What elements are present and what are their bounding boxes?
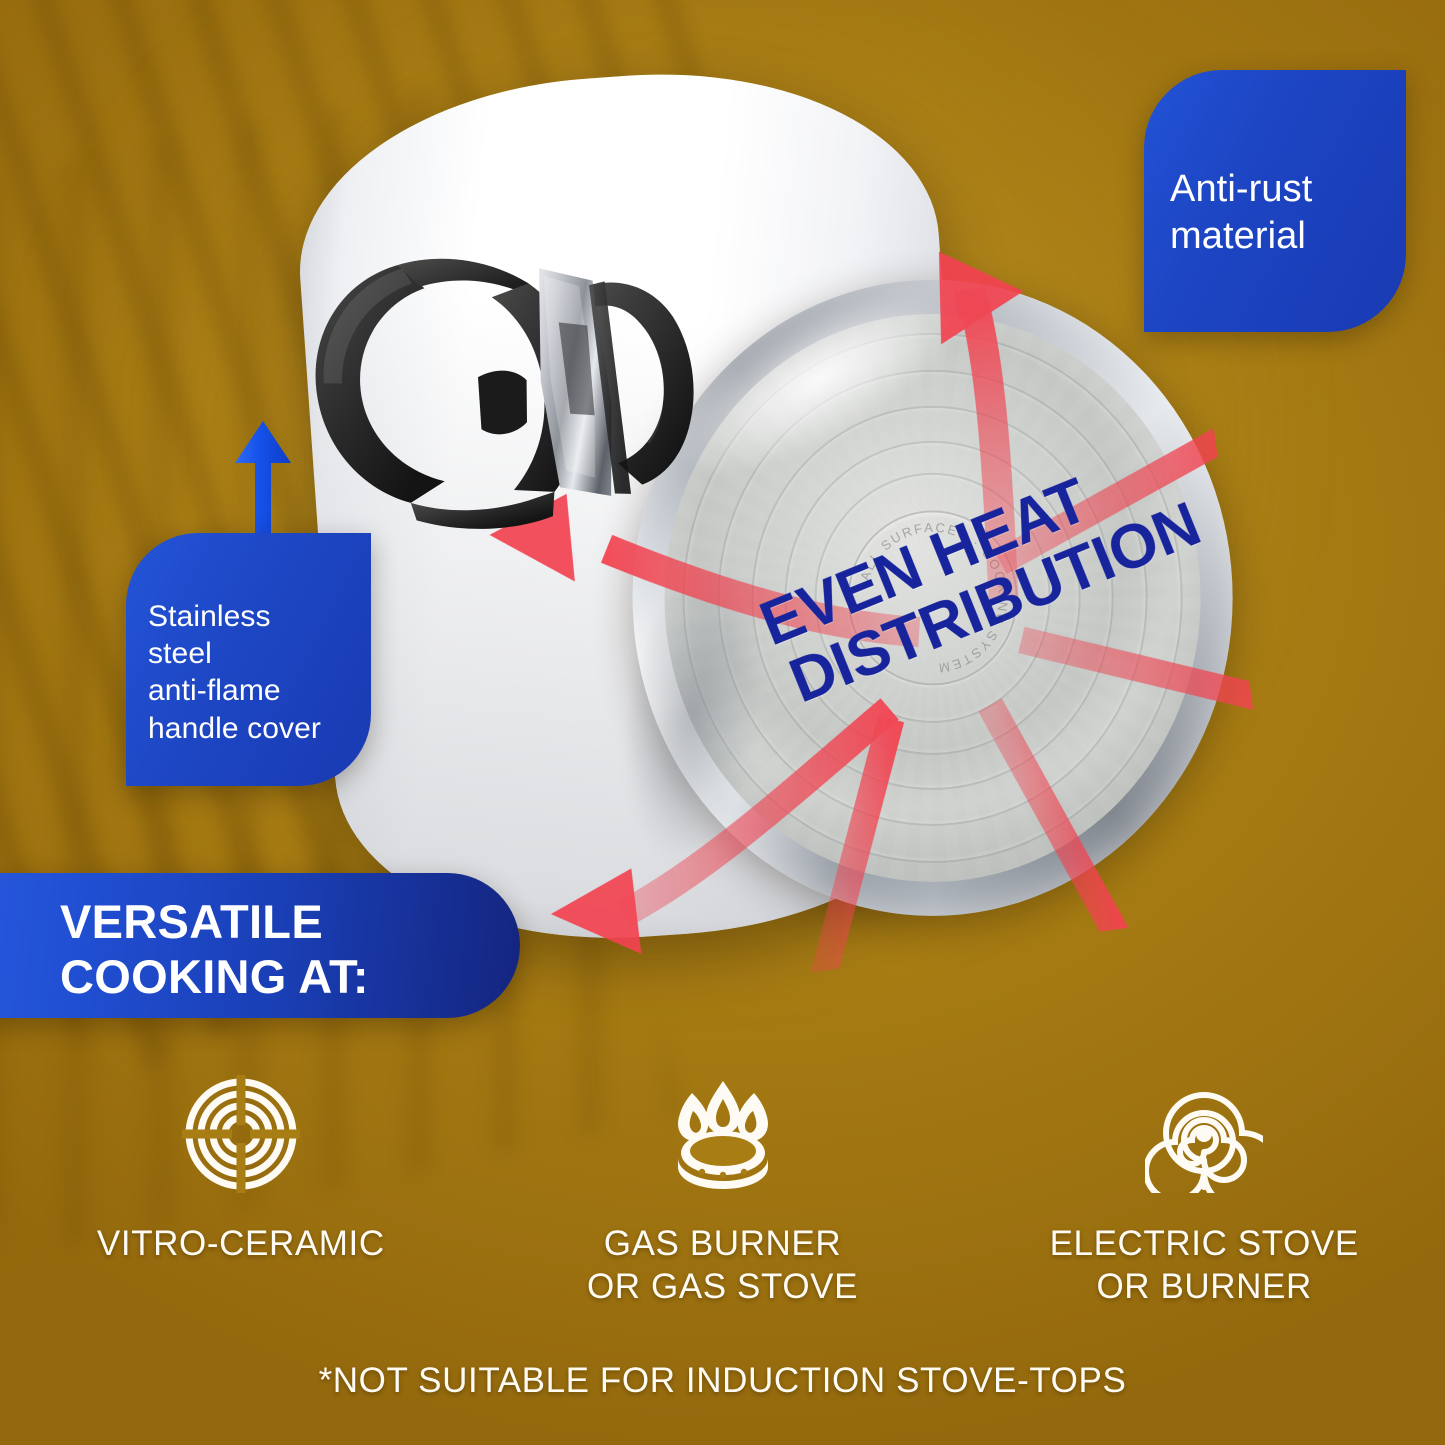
compatible-cooktops-row: VITRO-CERAMIC — [0, 1075, 1445, 1308]
badge-stainless-line2: steel — [148, 635, 371, 672]
product-infographic: ALL SURFACES · COOKING SYSTEM — [0, 0, 1445, 1445]
feature-gas-burner: GAS BURNER OR GAS STOVE — [482, 1075, 964, 1308]
feature-electric-stove: ELECTRIC STOVE OR BURNER — [963, 1075, 1445, 1308]
badge-anti-rust-line2: material — [1170, 213, 1406, 260]
badge-anti-rust: Anti-rust material — [1144, 70, 1406, 332]
vitro-ceramic-icon — [182, 1075, 300, 1193]
badge-versatile-line1: VERSATILE — [60, 895, 520, 950]
induction-disclaimer: *NOT SUITABLE FOR INDUCTION STOVE-TOPS — [0, 1361, 1445, 1401]
badge-anti-rust-line1: Anti-rust — [1170, 166, 1406, 213]
cooker-handles-assembly — [287, 205, 719, 575]
badge-stainless-steel-handle-cover: Stainless steel anti-flame handle cover — [126, 533, 371, 786]
feature-label-line2: OR GAS STOVE — [587, 1266, 858, 1309]
badge-stainless-line3: anti-flame — [148, 672, 371, 709]
pointer-arrow-up-icon — [215, 415, 325, 550]
badge-versatile-cooking: VERSATILE COOKING AT: — [0, 873, 520, 1018]
feature-vitro-ceramic-label: VITRO-CERAMIC — [97, 1223, 385, 1266]
feature-label-line1: GAS BURNER — [587, 1223, 858, 1266]
feature-gas-burner-label: GAS BURNER OR GAS STOVE — [587, 1223, 858, 1308]
gas-burner-icon — [664, 1075, 782, 1193]
badge-stainless-line1: Stainless — [148, 598, 371, 635]
handle-latch — [476, 368, 532, 436]
feature-label-line2: OR BURNER — [1050, 1266, 1359, 1309]
feature-electric-stove-label: ELECTRIC STOVE OR BURNER — [1050, 1223, 1359, 1308]
badge-stainless-line4: handle cover — [148, 710, 371, 747]
feature-label-line1: VITRO-CERAMIC — [97, 1223, 385, 1266]
feature-label-line1: ELECTRIC STOVE — [1050, 1223, 1359, 1266]
feature-vitro-ceramic: VITRO-CERAMIC — [0, 1075, 482, 1308]
badge-versatile-line2: COOKING AT: — [60, 950, 520, 1005]
electric-stove-icon — [1145, 1075, 1263, 1193]
